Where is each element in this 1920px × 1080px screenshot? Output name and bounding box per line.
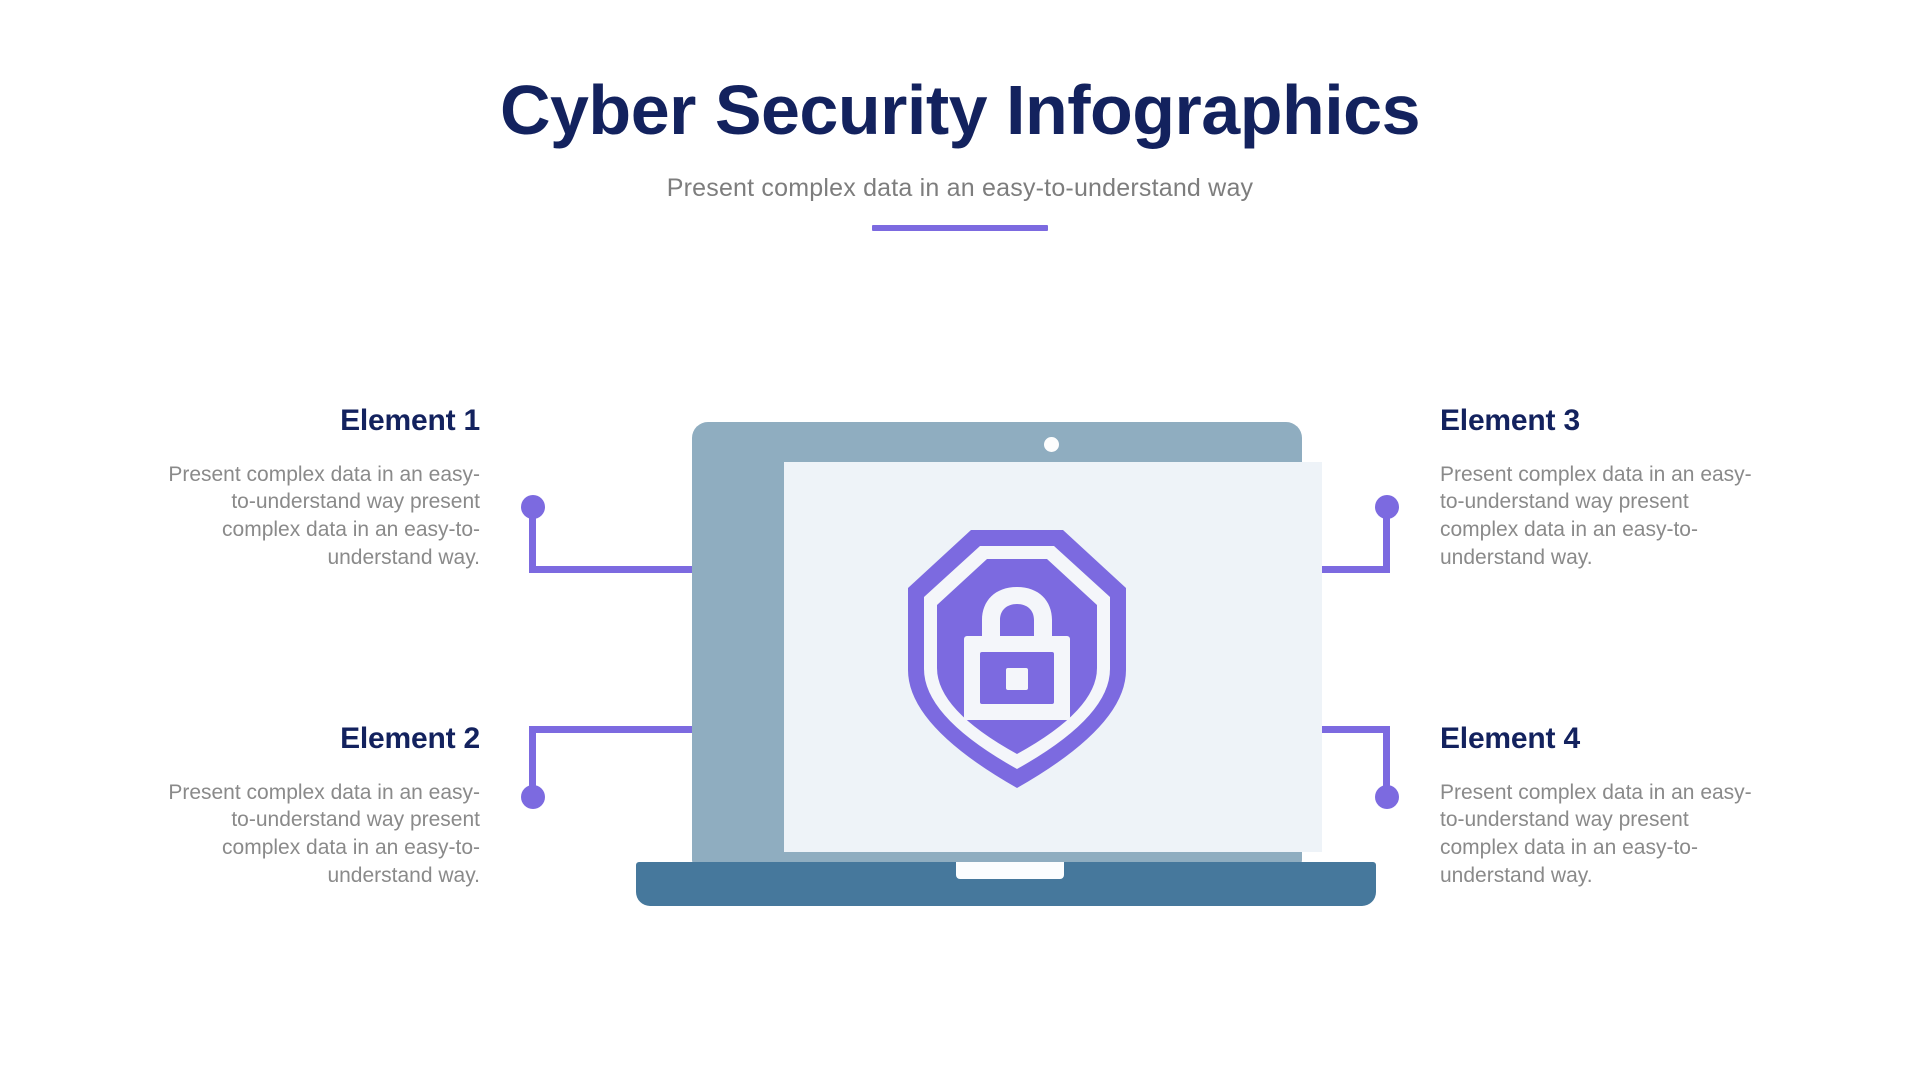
shield-lock-icon	[908, 530, 1126, 788]
laptop-icon	[636, 422, 1284, 917]
laptop-trackpad	[956, 862, 1064, 879]
connector-dot-element-2	[521, 785, 545, 809]
page-title: Cyber Security Infographics	[0, 74, 1920, 148]
element-1-title: Element 1	[150, 404, 480, 439]
infographic-slide: Cyber Security Infographics Present comp…	[0, 0, 1920, 1080]
connector-vertical-element-4	[1383, 726, 1390, 794]
element-2-body: Present complex data in an easy-to-under…	[150, 779, 480, 891]
element-1-body: Present complex data in an easy-to-under…	[150, 461, 480, 573]
title-divider-wrap	[0, 225, 1920, 231]
element-3-body: Present complex data in an easy-to-under…	[1440, 461, 1770, 573]
element-block-1: Element 1 Present complex data in an eas…	[150, 404, 480, 572]
element-block-4: Element 4 Present complex data in an eas…	[1440, 722, 1770, 890]
element-block-3: Element 3 Present complex data in an eas…	[1440, 404, 1770, 572]
connector-vertical-element-3	[1383, 505, 1390, 573]
element-4-body: Present complex data in an easy-to-under…	[1440, 779, 1770, 891]
connector-dot-element-1	[521, 495, 545, 519]
connector-dot-element-3	[1375, 495, 1399, 519]
page-subtitle: Present complex data in an easy-to-under…	[0, 174, 1920, 203]
title-divider	[872, 225, 1048, 231]
connector-vertical-element-2	[529, 726, 536, 794]
element-2-title: Element 2	[150, 722, 480, 757]
element-3-title: Element 3	[1440, 404, 1770, 439]
connector-vertical-element-1	[529, 505, 536, 573]
slide-header: Cyber Security Infographics Present comp…	[0, 74, 1920, 231]
element-4-title: Element 4	[1440, 722, 1770, 757]
connector-dot-element-4	[1375, 785, 1399, 809]
laptop-camera-icon	[1044, 437, 1059, 452]
element-block-2: Element 2 Present complex data in an eas…	[150, 722, 480, 890]
